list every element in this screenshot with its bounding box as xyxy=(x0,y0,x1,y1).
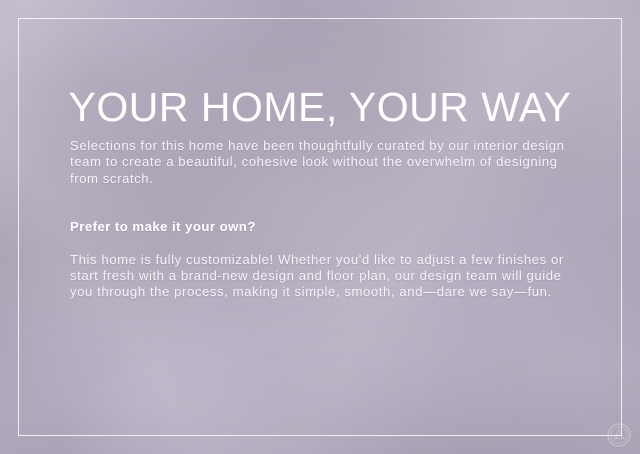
detail-paragraph: This home is fully customizable! Whether… xyxy=(70,236,570,301)
body-text-block: Selections for this home have been thoug… xyxy=(70,138,570,301)
intro-paragraph: Selections for this home have been thoug… xyxy=(70,138,570,187)
corner-emblem-watermark-icon xyxy=(606,422,632,448)
page-title: YOUR HOME, YOUR WAY xyxy=(0,85,640,130)
slide-content: YOUR HOME, YOUR WAY Selections for this … xyxy=(0,0,640,454)
slide-canvas: YOUR HOME, YOUR WAY Selections for this … xyxy=(0,0,640,454)
subheading: Prefer to make it your own? xyxy=(70,187,570,235)
